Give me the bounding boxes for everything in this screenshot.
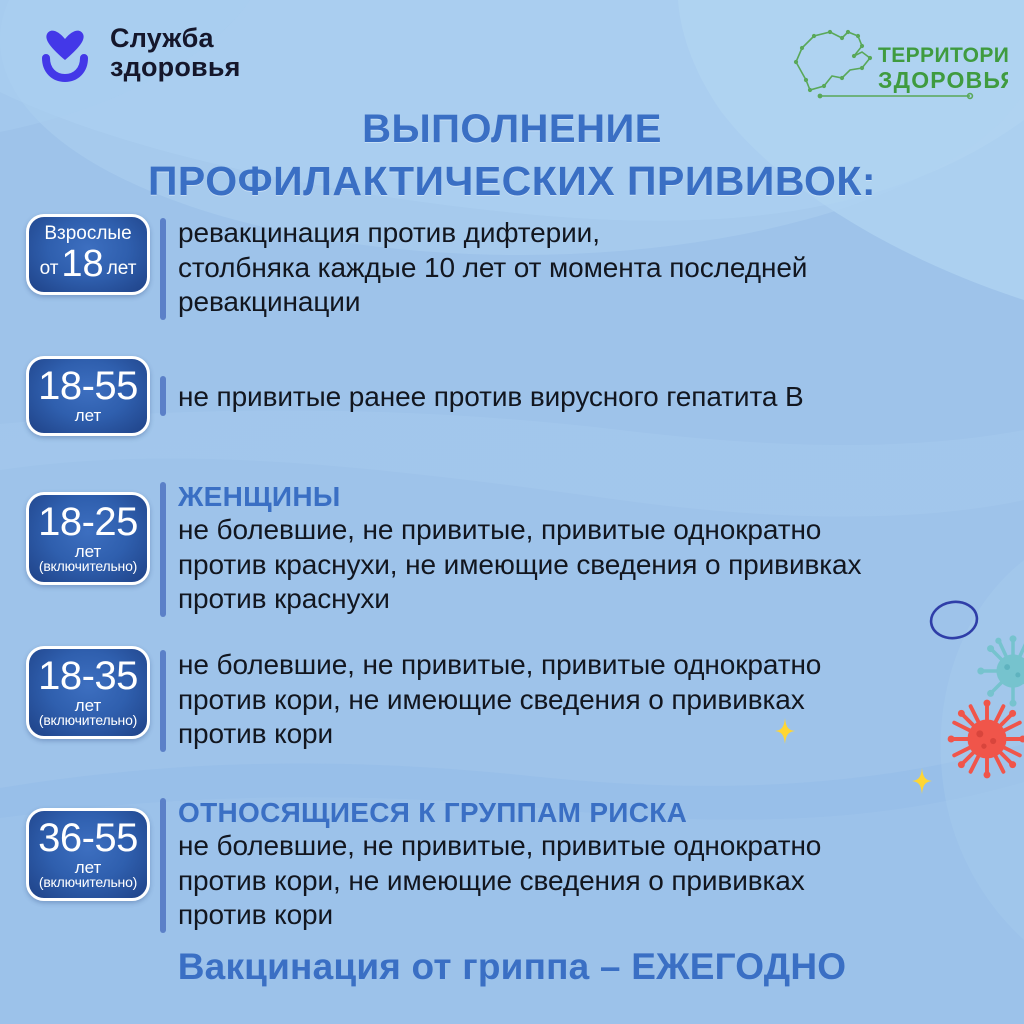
brand-line-1: Служба	[110, 24, 241, 53]
footer-note: Вакцинация от гриппа – ЕЖЕГОДНО	[0, 946, 1024, 988]
sparkle-icon	[912, 768, 932, 794]
row-text-line: столбняка каждые 10 лет от момента после…	[178, 251, 1006, 286]
territory-health-logo[interactable]: ТЕРРИТОРИЯ ЗДОРОВЬЯ	[758, 18, 1008, 114]
infographic-canvas: Служба здоровья	[0, 0, 1024, 1024]
row-divider	[160, 650, 166, 752]
age-badge: 18-55 лет	[26, 356, 150, 436]
badge-suffix: лет	[107, 258, 137, 279]
row-text-line: не болевшие, не привитые, привитые однок…	[178, 648, 1006, 683]
badge-age-line: от18лет	[33, 245, 143, 283]
badge-range: 18-55	[33, 366, 143, 406]
badge-prefix: от	[40, 258, 59, 279]
row-body: ОТНОСЯЩИЕСЯ К ГРУППАМ РИСКА не болевшие,…	[178, 794, 1006, 933]
vaccination-row: 18-55 лет не привитые ранее против вирус…	[26, 356, 1006, 436]
row-text-line: против кори	[178, 898, 1006, 933]
row-text-line: против кори, не имеющие сведения о приви…	[178, 864, 1006, 899]
vaccination-row: 18-25 лет (включительно) ЖЕНЩИНЫ не боле…	[26, 478, 1006, 617]
row-text-line: против кори	[178, 717, 1006, 752]
row-body: ЖЕНЩИНЫ не болевшие, не привитые, привит…	[178, 478, 1006, 617]
vaccination-row: 36-55 лет (включительно) ОТНОСЯЩИЕСЯ К Г…	[26, 794, 1006, 933]
brand-logo[interactable]: Служба здоровья	[34, 22, 241, 84]
title-line-2: ПРОФИЛАКТИЧЕСКИХ ПРИВИВОК:	[0, 155, 1024, 207]
row-heading: ЖЕНЩИНЫ	[178, 480, 1006, 513]
brand-name: Служба здоровья	[110, 24, 241, 82]
badge-note: (включительно)	[33, 559, 143, 573]
age-badge: 18-35 лет (включительно)	[26, 646, 150, 739]
row-divider	[160, 798, 166, 933]
row-text-line: ревакцинация против дифтерии,	[178, 216, 1006, 251]
page-title: ВЫПОЛНЕНИЕ ПРОФИЛАКТИЧЕСКИХ ПРИВИВОК:	[0, 104, 1024, 208]
badge-top-label: Взрослые	[33, 224, 143, 243]
heart-smile-icon	[34, 22, 96, 84]
age-badge: 36-55 лет (включительно)	[26, 808, 150, 901]
badge-number: 18	[58, 243, 106, 285]
row-body: ревакцинация против дифтерии, столбняка …	[178, 214, 1006, 320]
row-text-line: не болевшие, не привитые, привитые однок…	[178, 829, 1006, 864]
row-heading: ОТНОСЯЩИЕСЯ К ГРУППАМ РИСКА	[178, 796, 1006, 829]
brand-line-2: здоровья	[110, 53, 241, 82]
row-text-line: не болевшие, не привитые, привитые однок…	[178, 513, 1006, 548]
badge-note: (включительно)	[33, 713, 143, 727]
vaccination-row: Взрослые от18лет ревакцинация против диф…	[26, 214, 1006, 320]
territory-line-2: ЗДОРОВЬЯ	[878, 67, 1008, 93]
badge-range: 36-55	[33, 818, 143, 858]
row-divider	[160, 482, 166, 617]
age-badge: 18-25 лет (включительно)	[26, 492, 150, 585]
row-text-line: не привитые ранее против вирусного гепат…	[178, 380, 1006, 415]
row-divider	[160, 376, 166, 416]
row-text-line: против кори, не имеющие сведения о приви…	[178, 683, 1006, 718]
title-line-1: ВЫПОЛНЕНИЕ	[0, 104, 1024, 155]
age-badge: Взрослые от18лет	[26, 214, 150, 295]
territory-line-1: ТЕРРИТОРИЯ	[878, 44, 1008, 67]
row-text-line: против краснухи, не имеющие сведения о п…	[178, 548, 1006, 583]
badge-range: 18-25	[33, 502, 143, 542]
row-divider	[160, 218, 166, 320]
badge-range: 18-35	[33, 656, 143, 696]
row-text-line: против краснухи	[178, 582, 1006, 617]
row-body: не болевшие, не привитые, привитые однок…	[178, 646, 1006, 752]
badge-unit: лет	[33, 407, 143, 424]
vaccination-row: 18-35 лет (включительно) не болевшие, не…	[26, 646, 1006, 752]
row-body: не привитые ранее против вирусного гепат…	[178, 378, 1006, 415]
badge-note: (включительно)	[33, 875, 143, 889]
row-text-line: ревакцинации	[178, 285, 1006, 320]
